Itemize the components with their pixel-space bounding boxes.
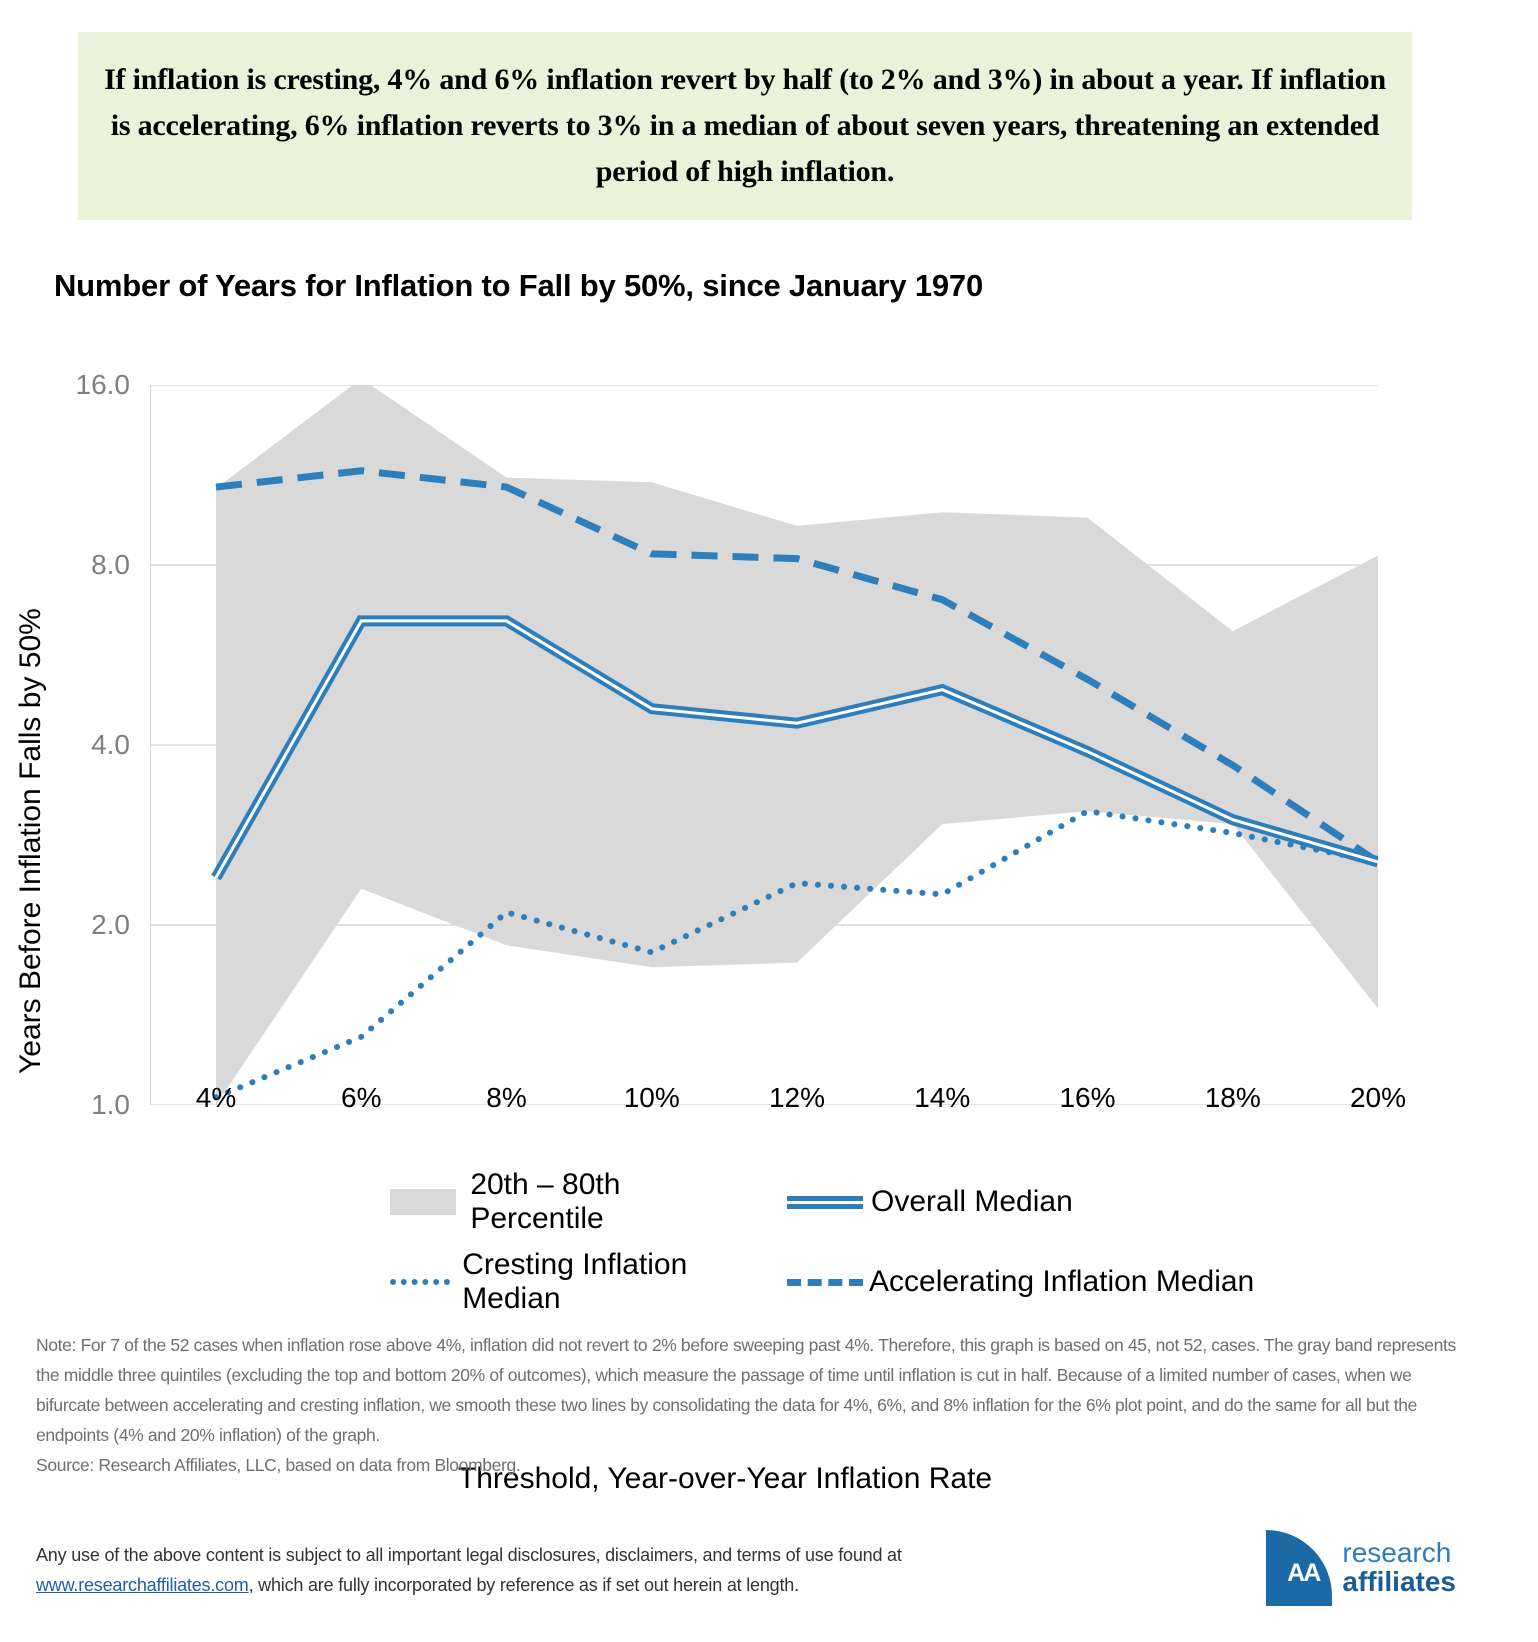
dashed-line-swatch-icon — [787, 1279, 863, 1286]
logo-glyph: AA — [1287, 1559, 1319, 1588]
callout-text: If inflation is cresting, 4% and 6% infl… — [78, 57, 1412, 195]
research-affiliates-logo: AA research affiliates — [1266, 1522, 1456, 1614]
chart-notes: Note: For 7 of the 52 cases when inflati… — [36, 1330, 1456, 1480]
legend-item-band[interactable]: 20th – 80th Percentile — [105, 1168, 725, 1236]
y-axis-label: Years Before Inflation Falls by 50% — [14, 608, 48, 1074]
x-tick-12%: 12% — [769, 1082, 825, 1114]
y-tick-8.0: 8.0 — [0, 549, 130, 581]
chart-container: 1.02.04.08.016.0 4%6%8%10%12%14%16%18%20… — [0, 340, 1450, 1120]
legend-label-cresting-median: Cresting Inflation Median — [462, 1248, 725, 1316]
solid-line-swatch-icon — [787, 1196, 863, 1209]
legend-item-cresting-median[interactable]: Cresting Inflation Median — [105, 1248, 725, 1316]
logo-line-2: affiliates — [1342, 1568, 1456, 1597]
legend-label-overall-median: Overall Median — [871, 1185, 1073, 1219]
note-text: Note: For 7 of the 52 cases when inflati… — [36, 1330, 1456, 1450]
logo-mark-icon: AA — [1266, 1530, 1332, 1606]
callout-banner: If inflation is cresting, 4% and 6% infl… — [78, 32, 1412, 220]
x-tick-10%: 10% — [624, 1082, 680, 1114]
research-affiliates-link[interactable]: www.researchaffiliates.com — [36, 1575, 249, 1595]
y-tick-1.0: 1.0 — [0, 1089, 130, 1121]
logo-line-1: research — [1342, 1539, 1456, 1568]
x-tick-8%: 8% — [486, 1082, 526, 1114]
legend-label-band: 20th – 80th Percentile — [470, 1168, 725, 1236]
disclaimer: Any use of the above content is subject … — [36, 1540, 1216, 1600]
x-tick-6%: 6% — [341, 1082, 381, 1114]
page-title: Number of Years for Inflation to Fall by… — [54, 268, 983, 304]
legend-item-overall-median[interactable]: Overall Median — [725, 1185, 1345, 1219]
disclaimer-line-1: Any use of the above content is subject … — [36, 1545, 902, 1565]
band-swatch-icon — [390, 1189, 456, 1215]
legend-row-1: 20th – 80th Percentile Overall Median — [0, 1168, 1450, 1236]
chart-legend: 20th – 80th Percentile Overall Median Cr… — [0, 1168, 1450, 1328]
y-tick-16.0: 16.0 — [0, 369, 130, 401]
legend-row-2: Cresting Inflation Median Accelerating I… — [0, 1248, 1450, 1316]
plot-area — [150, 385, 1378, 1105]
chart-svg — [150, 385, 1378, 1105]
x-tick-4%: 4% — [196, 1082, 236, 1114]
x-tick-18%: 18% — [1205, 1082, 1261, 1114]
x-tick-20%: 20% — [1350, 1082, 1406, 1114]
dotted-line-swatch-icon — [390, 1279, 450, 1285]
logo-wordmark: research affiliates — [1342, 1539, 1456, 1596]
source-text: Source: Research Affiliates, LLC, based … — [36, 1450, 1456, 1480]
legend-label-accelerating-median: Accelerating Inflation Median — [869, 1265, 1254, 1299]
disclaimer-line-2: , which are fully incorporated by refere… — [249, 1575, 799, 1595]
x-tick-16%: 16% — [1059, 1082, 1115, 1114]
legend-item-accelerating-median[interactable]: Accelerating Inflation Median — [725, 1265, 1345, 1299]
x-tick-14%: 14% — [914, 1082, 970, 1114]
